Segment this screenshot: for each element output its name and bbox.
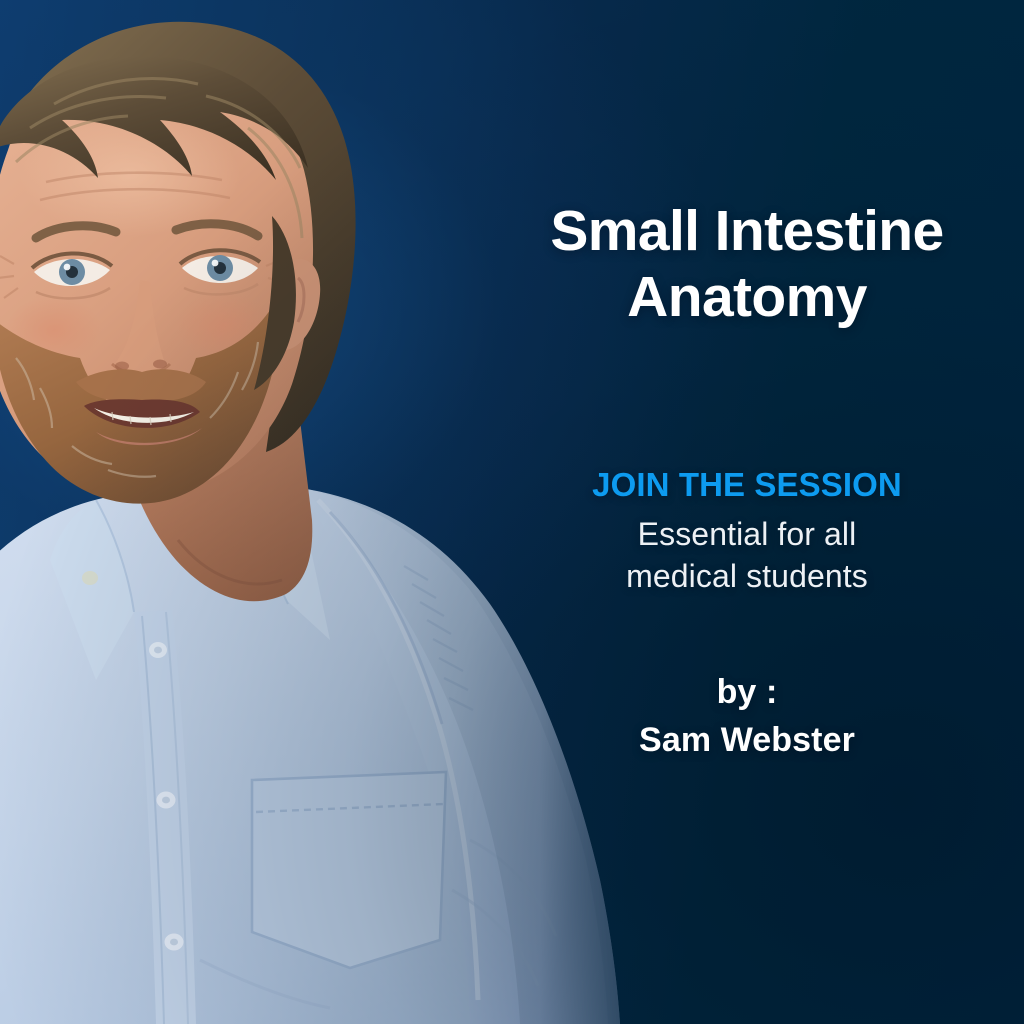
title-line-1: Small Intestine (550, 199, 943, 263)
page-title: Small Intestine Anatomy (512, 198, 982, 330)
audience-subtitle: Essential for all medical students (512, 513, 982, 597)
title-line-2: Anatomy (512, 264, 982, 330)
subtitle-line-2: medical students (512, 555, 982, 597)
subtitle-line-1: Essential for all (638, 516, 857, 552)
credit-label: by : (717, 673, 778, 711)
join-session-kicker: JOIN THE SESSION (512, 466, 982, 504)
presenter-name: Sam Webster (512, 716, 982, 764)
text-column: Small Intestine Anatomy JOIN THE SESSION… (512, 0, 1024, 1024)
presenter-credit: by : Sam Webster (512, 668, 982, 764)
promo-poster: Small Intestine Anatomy JOIN THE SESSION… (0, 0, 1024, 1024)
